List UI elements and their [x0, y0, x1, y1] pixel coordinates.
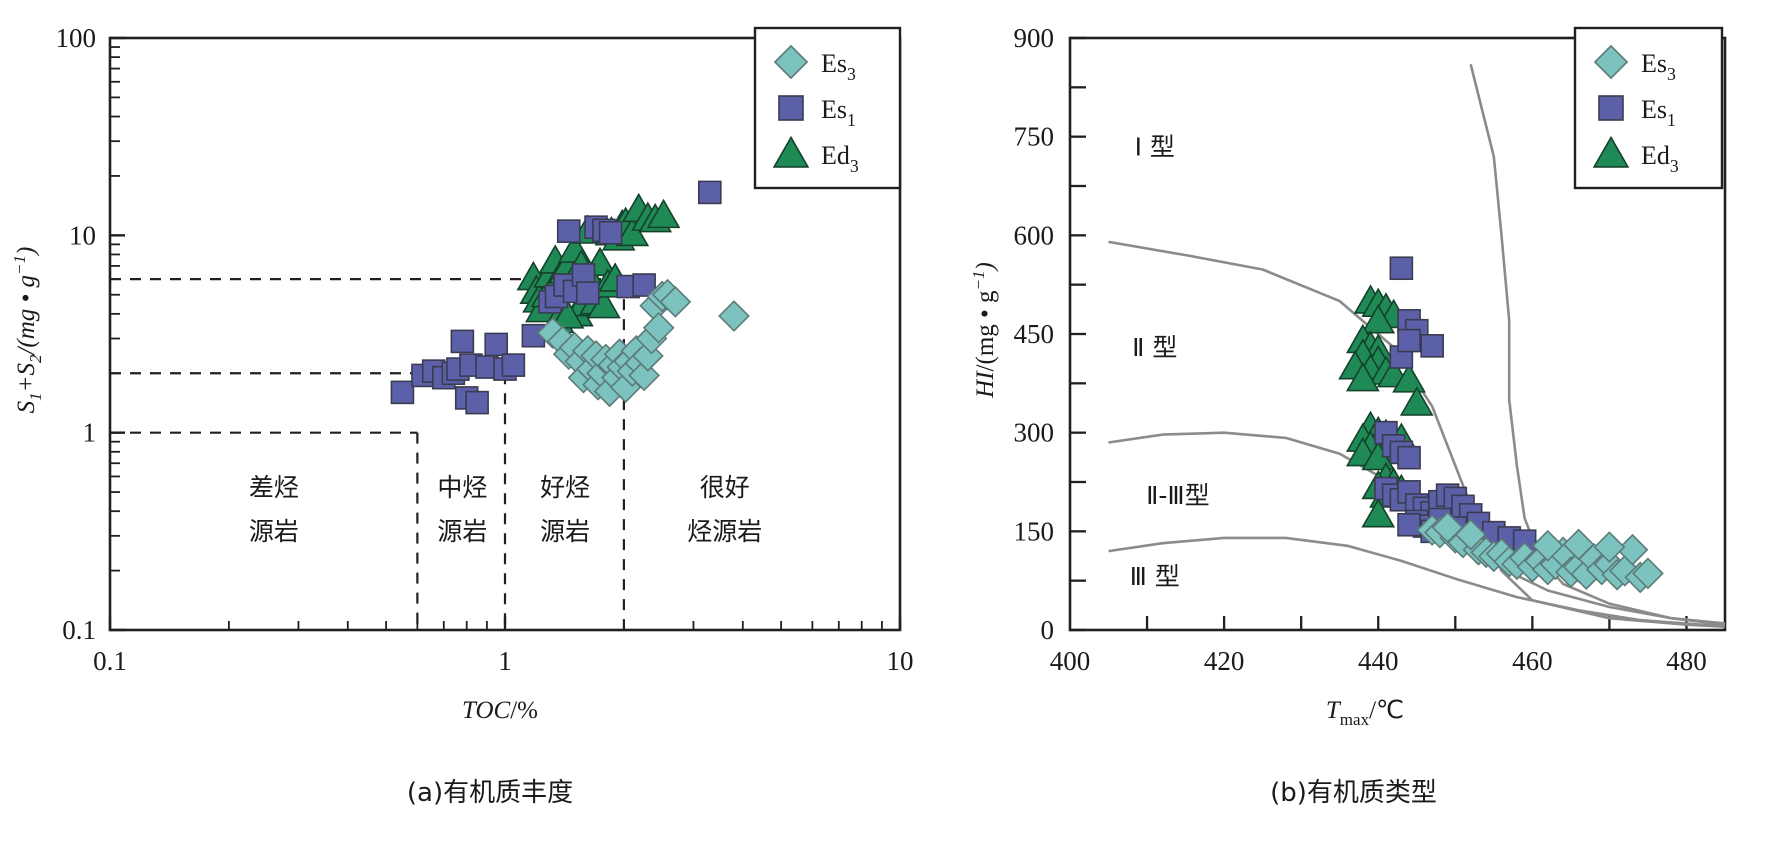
data-point-es1	[1398, 330, 1420, 352]
panel-a-y-axis-title: S1+S2/(mg • g−1)	[10, 247, 45, 414]
panel-a-zone-label: 源岩	[437, 517, 487, 546]
panel-a-organic-matter-abundance: 差烃源岩中烃源岩好烃源岩很好烃源岩 0.11100.1110100 Es3Es1…	[0, 0, 980, 800]
data-point-es1	[577, 282, 599, 304]
panel-b-y-axis-title: HI/(mg • g−1)	[969, 262, 999, 399]
panel-b-caption: (b)有机质类型	[935, 772, 1772, 809]
data-point-es3	[719, 301, 748, 330]
panel-a-zone-label: 中烃	[437, 473, 487, 502]
panel-b-y-tick-label: 0	[1041, 615, 1055, 645]
panel-b-y-tick-label: 150	[1014, 516, 1055, 546]
data-point-es1	[485, 333, 507, 355]
panel-a-zone-label: 很好	[700, 473, 750, 502]
legend-marker-es1	[1599, 96, 1623, 120]
data-point-es1	[502, 354, 524, 376]
panel-a-zone-label: 好烃	[540, 473, 590, 502]
data-point-es1	[558, 220, 580, 242]
panel-b-zone-label: Ⅲ 型	[1130, 562, 1180, 591]
panel-a-zone-label: 烃源岩	[687, 517, 762, 546]
panel-b-zone-label: Ⅱ 型	[1132, 333, 1177, 362]
panel-a-y-tick-label: 10	[69, 220, 96, 250]
panel-a-y-tick-label: 100	[56, 23, 97, 53]
panel-b-y-tick-label: 450	[1014, 319, 1055, 349]
panel-b-y-tick-label: 900	[1014, 23, 1055, 53]
panel-a-x-tick-label: 10	[887, 646, 914, 676]
panel-a-zone-label: 源岩	[540, 517, 590, 546]
panel-b-svg: Ⅰ 型Ⅱ 型Ⅱ-Ⅲ型Ⅲ 型 40042044046048001503004506…	[935, 0, 1772, 800]
panel-b-x-tick-label: 420	[1204, 646, 1245, 676]
panel-b-zone-label: Ⅰ 型	[1135, 133, 1175, 162]
panel-b-x-tick-label: 480	[1666, 646, 1707, 676]
panel-a-caption: (a)有机质丰度	[0, 772, 980, 809]
panel-a-x-tick-label: 0.1	[93, 646, 127, 676]
panel-a-y-tick-label: 1	[83, 418, 97, 448]
data-point-es1	[1421, 335, 1443, 357]
panel-b-y-tick-label: 750	[1014, 122, 1055, 152]
panel-b-x-axis-title: Tmax/℃	[1326, 697, 1404, 729]
panel-b-y-tick-label: 300	[1014, 418, 1055, 448]
panel-b-organic-matter-type: Ⅰ 型Ⅱ 型Ⅱ-Ⅲ型Ⅲ 型 40042044046048001503004506…	[935, 0, 1772, 800]
panel-a-x-tick-label: 1	[498, 646, 512, 676]
data-point-es1	[699, 181, 721, 203]
data-point-es1	[1398, 514, 1420, 536]
panel-b-x-tick-label: 460	[1512, 646, 1553, 676]
panel-b-y-tick-label: 600	[1014, 220, 1055, 250]
data-point-es1	[600, 222, 622, 244]
panel-a-svg: 差烃源岩中烃源岩好烃源岩很好烃源岩 0.11100.1110100 Es3Es1…	[0, 0, 980, 800]
panel-a-y-tick-label: 0.1	[62, 615, 96, 645]
panel-b-x-tick-label: 400	[1050, 646, 1091, 676]
legend-marker-es1	[779, 96, 803, 120]
panel-b-zone-label: Ⅱ-Ⅲ型	[1146, 481, 1210, 510]
data-point-es1	[1398, 447, 1420, 469]
data-point-es1	[466, 392, 488, 414]
data-point-es1	[391, 381, 413, 403]
panel-a-x-axis-title: TOC/%	[462, 697, 538, 724]
panel-a-zone-label: 源岩	[249, 517, 299, 546]
data-point-es1	[1390, 257, 1412, 279]
figure-root: 差烃源岩中烃源岩好烃源岩很好烃源岩 0.11100.1110100 Es3Es1…	[0, 0, 1772, 862]
panel-a-zone-label: 差烃	[249, 473, 299, 502]
data-point-es1	[451, 330, 473, 352]
panel-b-x-tick-label: 440	[1358, 646, 1399, 676]
